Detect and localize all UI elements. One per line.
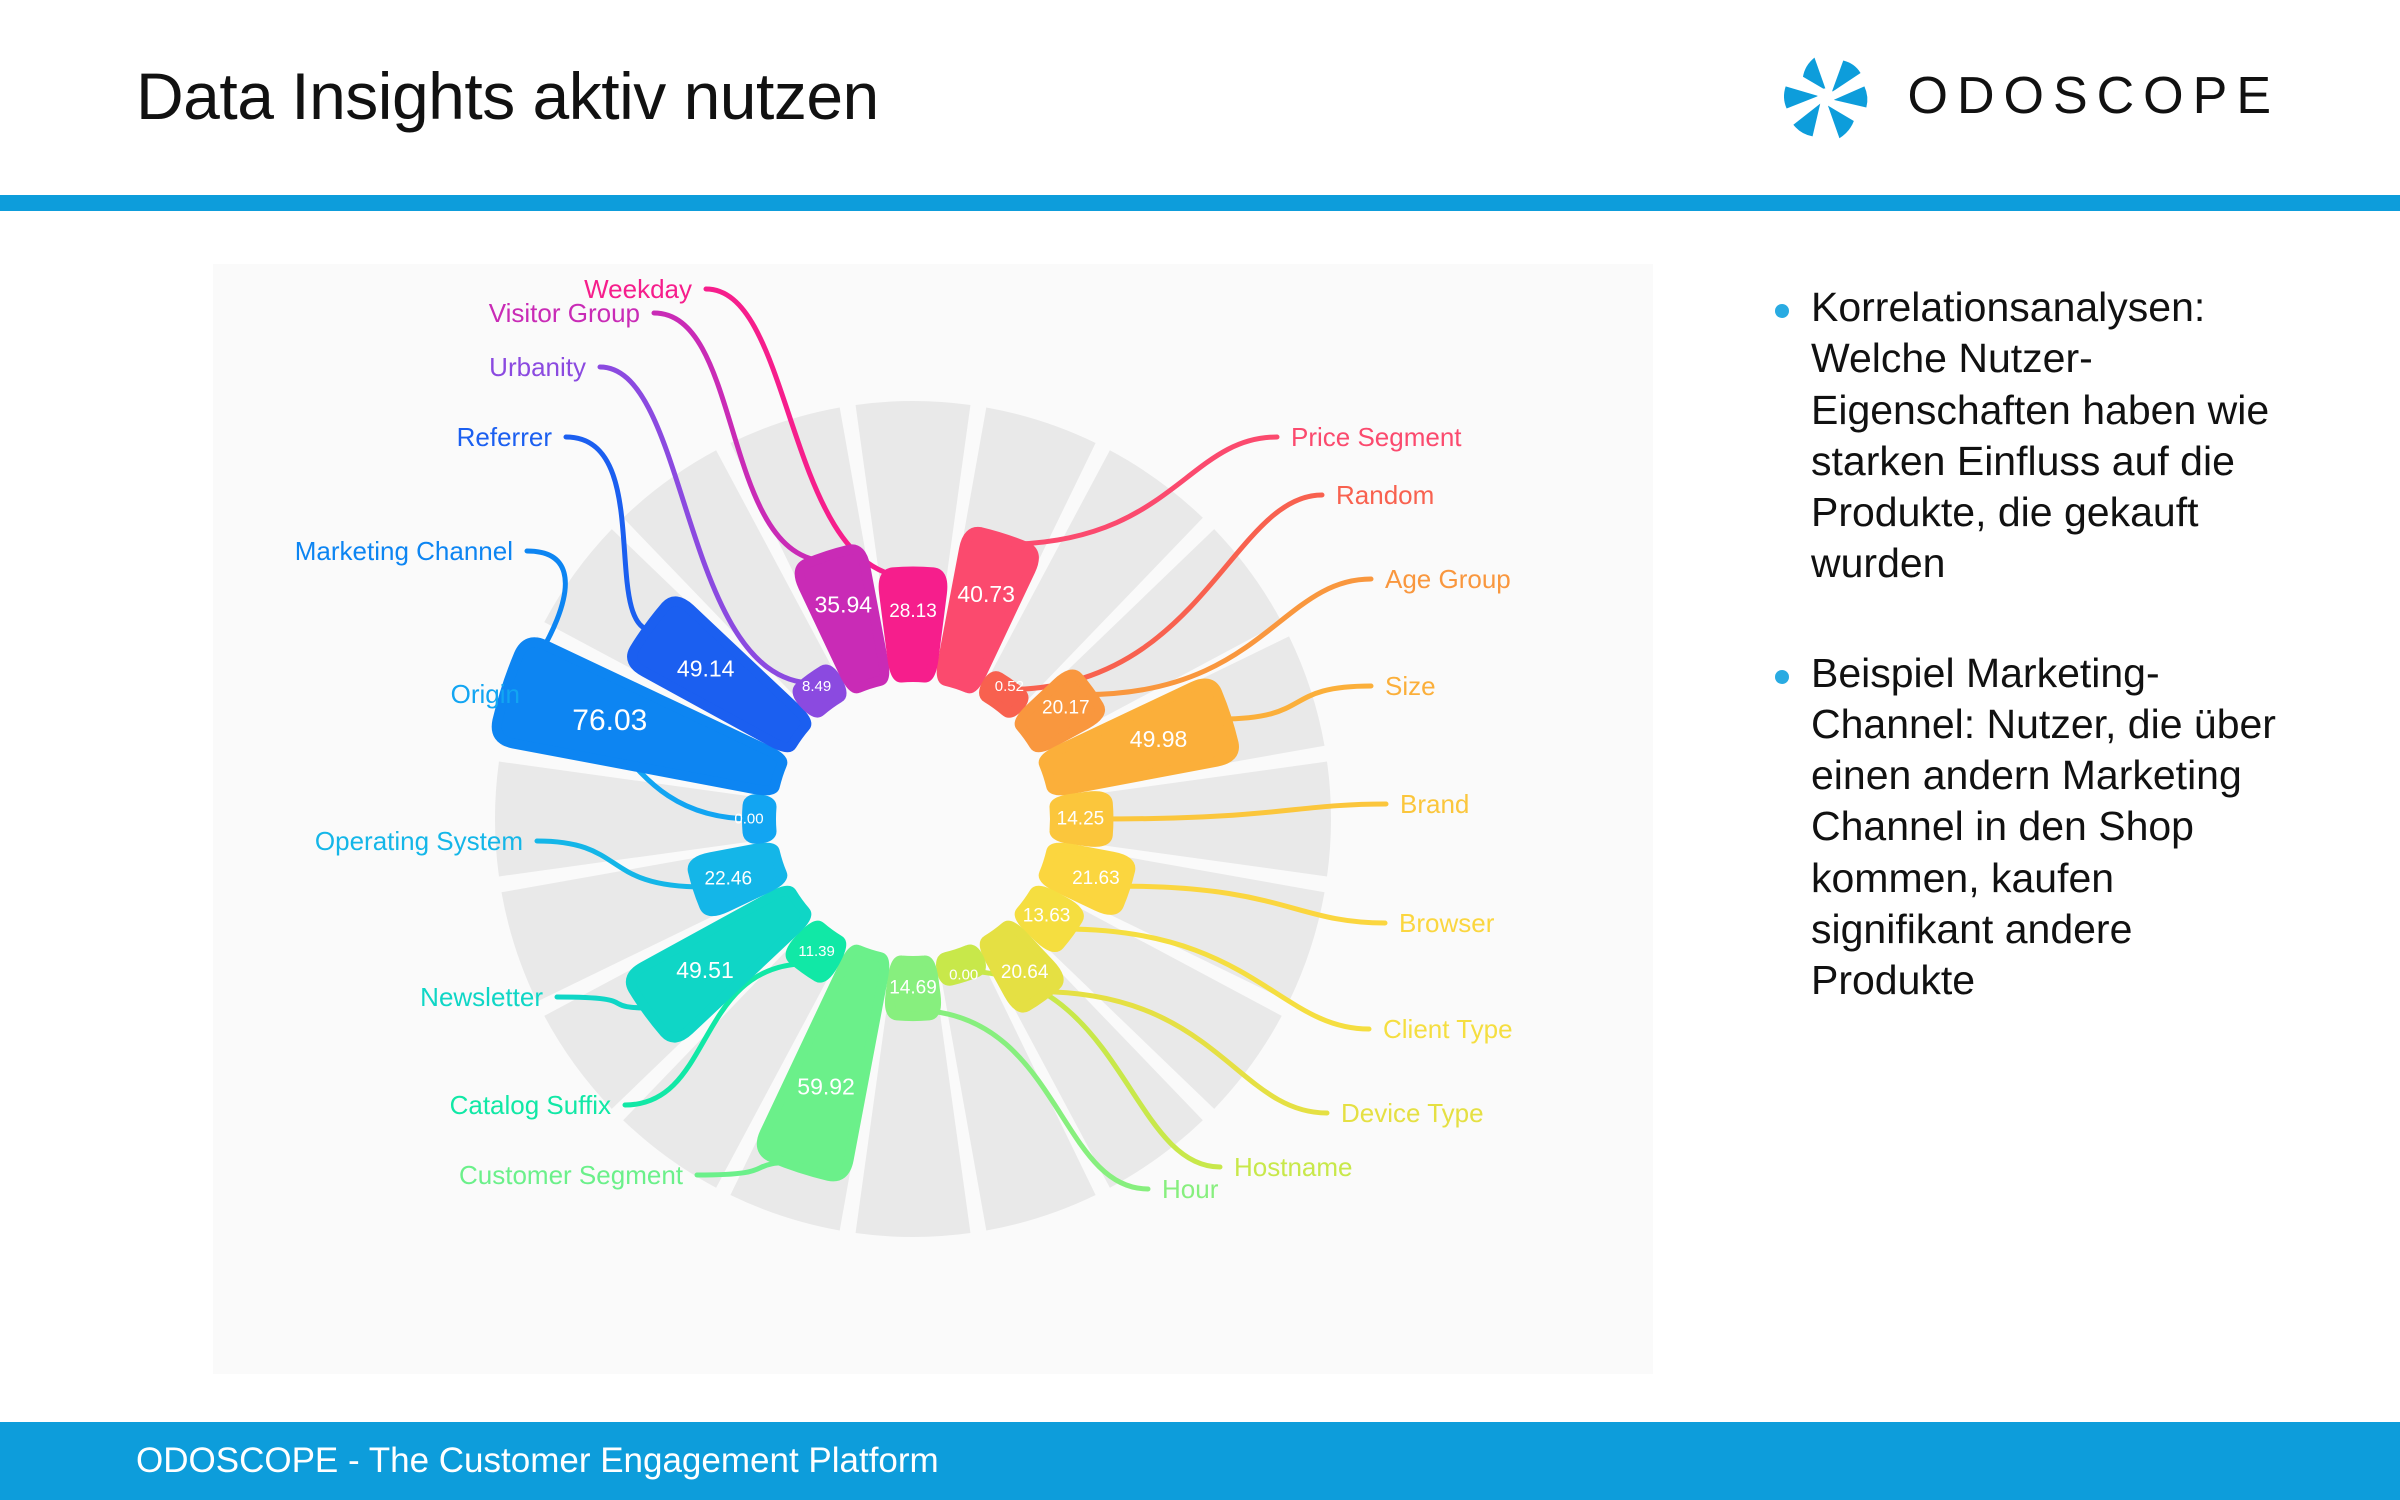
chart-category-label[interactable]: Random [1336, 480, 1434, 510]
bullet-text: Korrelationsanalysen: Welche Nutzer-Eige… [1811, 282, 2295, 590]
chart-bar-value-label: 11.39 [798, 943, 834, 960]
chart-bar-value-label: 49.14 [677, 655, 735, 681]
chart-category-label[interactable]: Marketing Channel [295, 536, 513, 566]
chart-category-label[interactable]: Urbanity [489, 352, 586, 382]
chart-category-label[interactable]: Customer Segment [459, 1160, 684, 1190]
list-item: Beispiel Marketing-Channel: Nutzer, die … [1775, 648, 2295, 1007]
chart-bar-value-label: 14.25 [1057, 809, 1105, 830]
chart-bar[interactable] [884, 572, 943, 678]
chart-bar-value-label: 0.52 [995, 678, 1024, 695]
chart-bar-value-label: 49.98 [1130, 726, 1188, 752]
chart-category-label[interactable]: Browser [1399, 908, 1495, 938]
chart-bar-value-label: 14.69 [889, 978, 937, 999]
brand-lockup: ODOSCOPE [1778, 48, 2281, 144]
chart-category-label[interactable]: Referrer [457, 422, 553, 452]
chart-bar-value-label: 22.46 [705, 869, 753, 890]
bullet-dot-icon [1775, 304, 1789, 318]
chart-bar-value-label: 59.92 [797, 1074, 855, 1100]
chart-category-label[interactable]: Client Type [1383, 1014, 1513, 1044]
chart-category-label[interactable]: Hour [1162, 1174, 1219, 1204]
slide-footer: ODOSCOPE - The Customer Engagement Platf… [0, 1422, 2400, 1500]
chart-category-label[interactable]: Newsletter [420, 982, 543, 1012]
brand-name: ODOSCOPE [1908, 66, 2281, 126]
chart-category-label[interactable]: Brand [1400, 789, 1469, 819]
radial-bar-chart-panel: 40.730.5220.1749.9814.2521.6313.6320.640… [213, 264, 1653, 1374]
chart-category-label[interactable]: Hostname [1234, 1152, 1353, 1182]
chart-bar-value-label: 21.63 [1072, 868, 1120, 889]
chart-category-label[interactable]: Price Segment [1291, 422, 1462, 452]
chart-bar-value-label: 28.13 [889, 601, 937, 622]
chart-bar-value-label: 8.49 [802, 678, 831, 695]
chart-category-label[interactable]: Catalog Suffix [450, 1090, 611, 1120]
chart-bar-value-label: 40.73 [957, 581, 1015, 607]
chart-category-label[interactable]: Origin [451, 679, 520, 709]
slide-header: Data Insights aktiv nutzen ODOSCOPE [0, 0, 2400, 200]
chart-bar-value-label: 76.03 [572, 704, 647, 737]
odoscope-pinwheel-logo-icon [1778, 48, 1874, 144]
chart-category-label[interactable]: Operating System [315, 826, 523, 856]
slide-root: Data Insights aktiv nutzen ODOSCOPE [0, 0, 2400, 1500]
chart-category-label[interactable]: Device Type [1341, 1098, 1484, 1128]
bullet-text: Beispiel Marketing-Channel: Nutzer, die … [1811, 648, 2295, 1007]
list-item: Korrelationsanalysen: Welche Nutzer-Eige… [1775, 282, 2295, 590]
chart-category-label[interactable]: Weekday [584, 274, 692, 304]
chart-bar-value-label: 20.17 [1042, 697, 1090, 718]
chart-bar-value-label: 0.00 [734, 811, 763, 828]
chart-bar-value-label: 0.00 [949, 966, 978, 983]
chart-bar-value-label: 20.64 [1001, 962, 1049, 983]
page-title: Data Insights aktiv nutzen [136, 58, 879, 134]
chart-category-label[interactable]: Size [1385, 671, 1436, 701]
bullet-dot-icon [1775, 670, 1789, 684]
chart-bar-value-label: 13.63 [1023, 906, 1071, 927]
header-accent-rule [0, 195, 2400, 211]
footer-text: ODOSCOPE - The Customer Engagement Platf… [136, 1441, 939, 1481]
chart-bar-value-label: 49.51 [676, 957, 734, 983]
radial-bar-chart: 40.730.5220.1749.9814.2521.6313.6320.640… [213, 264, 1653, 1374]
chart-category-label[interactable]: Age Group [1385, 564, 1511, 594]
bullet-list: Korrelationsanalysen: Welche Nutzer-Eige… [1775, 282, 2295, 1064]
chart-bar-value-label: 35.94 [815, 591, 873, 617]
